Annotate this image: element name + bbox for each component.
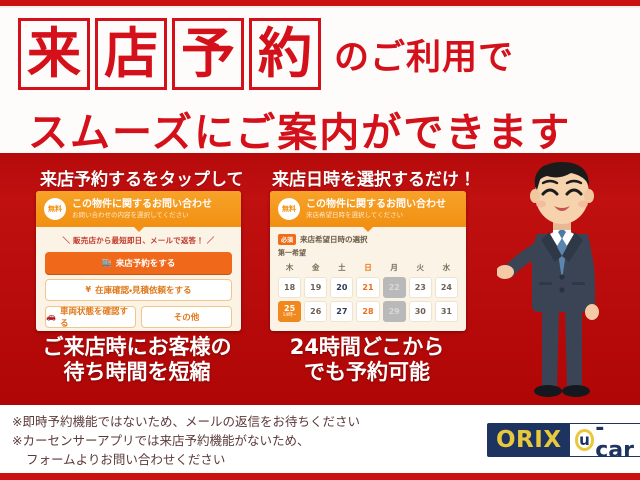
mock-button-vehicle-condition-label: 車両状態を確認する: [60, 305, 135, 329]
headline-tail: のご利用で: [334, 29, 514, 80]
calendar-date-number: 20: [336, 283, 347, 292]
mock-button-vehicle-condition[interactable]: 🚗 車両状態を確認する: [45, 306, 136, 328]
calendar-date-cell[interactable]: 2514時~: [278, 301, 301, 322]
disclaimer-line-2: ※カーセンサーアプリでは来店予約機能がないため、: [12, 432, 360, 451]
calendar-date-cell[interactable]: 28: [356, 301, 379, 322]
mock-button-reserve-visit-label: 来店予約をする: [116, 257, 176, 269]
left-mock-card: 無料 この物件に関するお問い合わせ お問い合わせの内容を選択してください ＼ 販…: [36, 191, 241, 331]
mock-button-stock-quote[interactable]: ¥ 在庫確認・見積依頼をする: [45, 279, 232, 301]
right-caption-line1: 24時間どこから: [262, 335, 472, 360]
calendar-date-cell[interactable]: 27: [330, 301, 353, 322]
left-caption-line2: 待ち時間を短縮: [12, 360, 262, 385]
bottom-red-rule: [0, 473, 640, 480]
disclaimer-line-1: ※即時予約機能ではないため、メールの返信をお待ちください: [12, 413, 360, 432]
kanji-box-2: 店: [95, 18, 167, 90]
left-mock-header: 無料 この物件に関するお問い合わせ お問い合わせの内容を選択してください: [36, 191, 241, 227]
logo-u-circle-icon: u: [575, 429, 595, 451]
header-section: 来 店 予 約 のご利用で スムーズにご案内ができます: [0, 8, 640, 153]
header-notch: [362, 226, 374, 232]
calendar-date-number: 22: [389, 283, 400, 292]
calendar-date-grid: 181920212223242514時~262728293031: [278, 277, 458, 322]
calendar-date-cell[interactable]: 19: [304, 277, 327, 298]
calendar-date-number: 28: [362, 307, 373, 316]
calendar-dow-土: 土: [330, 262, 353, 275]
calendar-body: 必須 来店希望日時の選択 第一希望 木金土日月火水 18192021222324…: [270, 227, 466, 328]
right-mock-header-main: この物件に関するお問い合わせ: [306, 199, 446, 211]
kanji-box-4: 約: [249, 18, 321, 90]
calendar-date-number: 26: [310, 307, 321, 316]
headline-line-2: スムーズにご案内ができます: [28, 100, 571, 158]
store-icon: 🏬: [102, 259, 112, 267]
kanji-box-1: 来: [18, 18, 90, 90]
salesman-illustration: [497, 150, 627, 410]
free-badge: 無料: [44, 198, 66, 220]
calendar-date-number: 31: [441, 307, 452, 316]
right-caption: 24時間どこから でも予約可能: [262, 335, 472, 385]
calendar-date-cell[interactable]: 24: [435, 277, 458, 298]
calendar-date-number: 29: [389, 307, 400, 316]
left-caption-line1: ご来店時にお客様の: [12, 335, 262, 360]
logo-orix-text: ORIX: [488, 424, 570, 456]
left-mock-header-main: この物件に関するお問い合わせ: [72, 199, 212, 211]
calendar-date-cell[interactable]: 26: [304, 301, 327, 322]
right-panel-title: 来店日時を選択するだけ！: [272, 165, 476, 190]
orix-ucar-logo: ORIX u -car: [487, 423, 640, 457]
advertisement-banner: 来 店 予 約 のご利用で スムーズにご案内ができます 来店予約するをタップして…: [0, 0, 640, 480]
car-icon: 🚗: [46, 313, 56, 321]
left-panel-title: 来店予約するをタップして: [40, 165, 244, 190]
right-mock-header-text: この物件に関するお問い合わせ 来店希望日時を選択してください: [306, 199, 446, 219]
mock-button-row: 🚗 車両状態を確認する その他: [45, 306, 232, 328]
calendar-date-number: 25: [284, 304, 295, 313]
calendar-date-number: 27: [336, 307, 347, 316]
calendar-dow-火: 火: [409, 262, 432, 275]
left-caption: ご来店時にお客様の 待ち時間を短縮: [12, 335, 262, 385]
calendar-date-number: 19: [310, 283, 321, 292]
calendar-section-label: 来店希望日時の選択: [300, 234, 368, 245]
right-mock-header: 無料 この物件に関するお問い合わせ 来店希望日時を選択してください: [270, 191, 466, 227]
calendar-dow-月: 月: [383, 262, 406, 275]
logo-ucar-block: u -car: [570, 424, 640, 456]
headline-line-1: 来 店 予 約 のご利用で: [18, 18, 514, 90]
calendar-dow-日: 日: [356, 262, 379, 275]
left-mock-header-sub: お問い合わせの内容を選択してください: [72, 211, 212, 219]
logo-car-text: -car: [595, 423, 636, 457]
calendar-date-cell[interactable]: 30: [409, 301, 432, 322]
disclaimer-line-3: フォームよりお問い合わせください: [12, 451, 360, 470]
kanji-box-3: 予: [172, 18, 244, 90]
free-badge: 無料: [278, 198, 300, 220]
calendar-date-cell: 22: [383, 277, 406, 298]
calendar-date-cell[interactable]: 21: [356, 277, 379, 298]
calendar-date-cell[interactable]: 20: [330, 277, 353, 298]
calendar-date-cell[interactable]: 18: [278, 277, 301, 298]
calendar-date-number: 30: [415, 307, 426, 316]
calendar-date-number: 18: [284, 283, 295, 292]
right-mock-header-sub: 来店希望日時を選択してください: [306, 211, 446, 219]
calendar-section-head: 必須 来店希望日時の選択: [278, 234, 458, 245]
right-mock-card: 無料 この物件に関するお問い合わせ 来店希望日時を選択してください 必須 来店希…: [270, 191, 466, 331]
mock-button-stock-quote-label: 在庫確認・見積依頼をする: [95, 284, 191, 296]
left-mock-header-text: この物件に関するお問い合わせ お問い合わせの内容を選択してください: [72, 199, 212, 219]
calendar-date-number: 21: [362, 283, 373, 292]
left-mock-body: ＼ 販売店から最短即日、メールで返答！ ／ 🏬 来店予約をする ¥ 在庫確認・見…: [36, 227, 241, 331]
header-notch: [133, 226, 145, 232]
calendar-dow-水: 水: [435, 262, 458, 275]
disclaimer-notes: ※即時予約機能ではないため、メールの返信をお待ちください ※カーセンサーアプリで…: [12, 413, 360, 469]
mock-button-reserve-visit[interactable]: 🏬 来店予約をする: [45, 252, 232, 274]
calendar-date-number: 24: [441, 283, 452, 292]
preference-label: 第一希望: [278, 248, 458, 258]
mock-button-other[interactable]: その他: [141, 306, 232, 328]
calendar-date-number: 23: [415, 283, 426, 292]
calendar-date-cell: 29: [383, 301, 406, 322]
calendar-dow-金: 金: [304, 262, 327, 275]
required-badge: 必須: [278, 234, 296, 245]
calendar-dow-木: 木: [278, 262, 301, 275]
calendar-date-cell[interactable]: 23: [409, 277, 432, 298]
left-mock-lead: ＼ 販売店から最短即日、メールで返答！ ／: [45, 235, 232, 246]
mock-button-other-label: その他: [174, 311, 200, 323]
yen-icon: ¥: [86, 286, 92, 294]
calendar-date-subtext: 14時~: [283, 314, 297, 319]
calendar-date-cell[interactable]: 31: [435, 301, 458, 322]
calendar-dow-row: 木金土日月火水: [278, 262, 458, 275]
right-caption-line2: でも予約可能: [262, 360, 472, 385]
